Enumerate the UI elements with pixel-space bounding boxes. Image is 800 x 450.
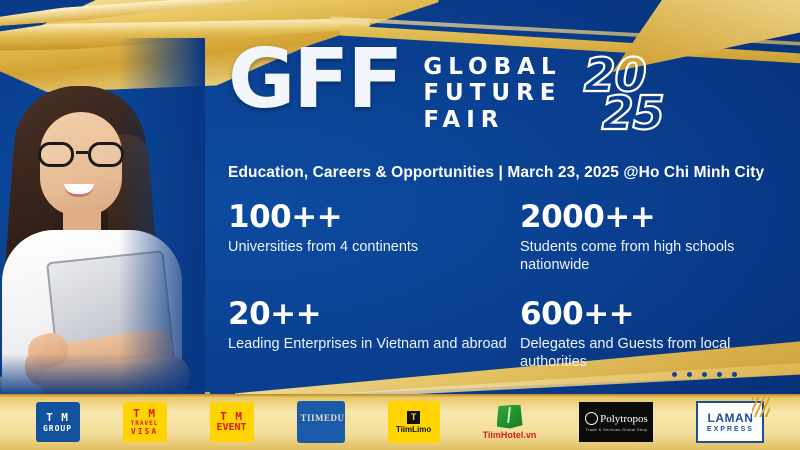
sponsor-line-2: Trade & Services Global Shop [585,427,647,432]
stat-students: 2000++ Students come from high schools n… [520,200,768,275]
sponsor-logo-tiimedu[interactable]: TIIMEDU [297,401,345,443]
sponsor-line-1: Polytropos [600,413,648,425]
event-full-name: GLOBAL FUTURE FAIR [423,44,561,132]
stat-description: Leading Enterprises in Vietnam and abroa… [228,335,520,354]
photo-bottom-fade [0,354,205,394]
circle-icon [585,412,598,425]
sponsor-line-1: TIIMEDU [301,414,345,423]
sponsor-line-3: VISA [131,428,158,436]
gff-acronym: GFF [228,44,401,116]
sparkle-icon [752,397,770,417]
gold-ribbon-top-left-thin [0,0,250,29]
sponsor-line-2: EVENT [216,423,246,433]
sponsor-line-2: GROUP [43,425,72,433]
sponsor-logo-bar: T M GROUP T M TRAVEL VISA T M EVENT TIIM… [0,394,800,450]
photo-edge-fade [0,38,205,394]
sponsor-logo-tiimhotel[interactable]: TiimHotel.vn [483,405,537,440]
logo-word-global: GLOBAL [423,56,561,79]
stat-number: 100++ [228,200,520,235]
sponsor-line-2: EXPRESS [707,426,754,433]
stat-universities: 100++ Universities from 4 continents [228,200,520,275]
event-logo: GFF GLOBAL FUTURE FAIR 20 25 [228,44,680,146]
gff-event-poster: GFF GLOBAL FUTURE FAIR 20 25 Education, … [0,0,800,450]
stat-description: Universities from 4 continents [228,238,520,257]
sponsor-logo-tiim-travel-visa[interactable]: T M TRAVEL VISA [123,402,167,442]
sponsor-logo-tiimlimo[interactable]: T TiimLimo [388,401,440,443]
stat-number: 20++ [228,297,520,332]
sponsor-line-1: T M [46,412,69,423]
sponsor-line-1: T M [220,411,243,422]
sponsor-logo-tiim-group[interactable]: T M GROUP [36,402,80,442]
event-year: 20 25 [584,48,680,146]
sponsor-line-1: LAMAN [708,411,754,425]
logo-word-fair: FAIR [423,109,561,132]
sponsor-line-1: T M [133,408,156,419]
stat-number: 2000++ [520,200,768,235]
stat-description: Students come from high schools nationwi… [520,238,768,275]
stat-enterprises: 20++ Leading Enterprises in Vietnam and … [228,297,520,372]
sponsor-line-1: TiimHotel.vn [483,430,537,440]
stat-delegates: 600++ Delegates and Guests from local au… [520,297,768,372]
student-photo [0,38,205,394]
stats-grid: 100++ Universities from 4 continents 200… [228,200,768,372]
event-subtitle: Education, Careers & Opportunities | Mar… [228,164,764,182]
sponsor-logo-tiim-event[interactable]: T M EVENT [210,402,254,442]
stat-description: Delegates and Guests from local authorit… [520,335,768,372]
sponsor-logo-laman-express[interactable]: LAMAN EXPRESS [696,401,764,443]
stat-number: 600++ [520,297,768,332]
sponsor-line-2: TiimLimo [396,426,431,434]
leaf-icon [497,405,523,429]
limo-square-icon: T [407,411,420,424]
logo-word-future: FUTURE [423,82,561,105]
sponsor-logo-polytropos[interactable]: Polytropos Trade & Services Global Shop [579,402,653,442]
year-bottom-digits: 25 [602,86,664,140]
